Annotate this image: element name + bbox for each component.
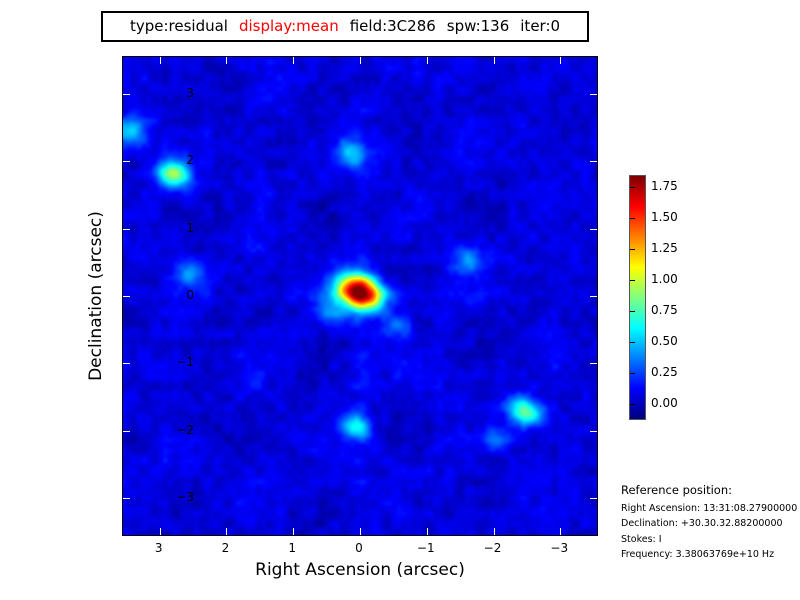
- colorbar-tick-mark: [630, 187, 635, 188]
- header-item-type: type:residual: [130, 19, 228, 34]
- x-axis-tick-label: −1: [417, 541, 435, 555]
- colorbar-tick-label: 0.50: [651, 334, 678, 348]
- colorbar-tick-mark: [630, 404, 635, 405]
- colorbar-tick-label: 0.25: [651, 365, 678, 379]
- y-axis-tick-label: −1: [176, 355, 194, 369]
- colorbar-gradient: [630, 176, 645, 419]
- y-axis-label: Declination (arcsec): [86, 56, 106, 536]
- y-axis-tick-label: 2: [186, 153, 194, 167]
- x-axis-label: Right Ascension (arcsec): [122, 560, 598, 580]
- y-axis-tick-label: −2: [176, 423, 194, 437]
- colorbar-tick-mark: [630, 249, 635, 250]
- y-axis-tick-label: 0: [186, 288, 194, 302]
- colorbar-tick-mark: [630, 373, 635, 374]
- colorbar[interactable]: [629, 175, 646, 420]
- residual-image-canvas[interactable]: [123, 57, 597, 535]
- colorbar-tick-mark: [630, 342, 635, 343]
- reference-position-dec: Declination: +30.30.32.88200000: [621, 516, 799, 531]
- header-item-display: display:mean: [239, 19, 339, 34]
- x-axis-tick-label: 2: [222, 541, 230, 555]
- reference-position-stokes: Stokes: I: [621, 532, 799, 547]
- colorbar-tick-label: 1.25: [651, 241, 678, 255]
- colorbar-tick-label: 1.50: [651, 210, 678, 224]
- colorbar-tick-label: 1.00: [651, 272, 678, 286]
- colorbar-tick-mark: [630, 218, 635, 219]
- reference-position-frequency: Frequency: 3.38063769e+10 Hz: [621, 547, 799, 562]
- reference-position-title: Reference position:: [621, 483, 799, 497]
- x-axis-tick-label: 3: [155, 541, 163, 555]
- x-axis-tick-label: 1: [288, 541, 296, 555]
- x-axis-tick-label: −3: [550, 541, 568, 555]
- colorbar-tick-label: 0.00: [651, 396, 678, 410]
- image-info-header: type:residual display:mean field:3C286 s…: [101, 11, 589, 42]
- colorbar-tick-mark: [630, 311, 635, 312]
- y-axis-tick-label: 1: [186, 221, 194, 235]
- y-axis-tick-label: 3: [186, 86, 194, 100]
- header-item-spw: spw:136: [447, 19, 509, 34]
- colorbar-tick-label: 1.75: [651, 179, 678, 193]
- header-item-field: field:3C286: [350, 19, 436, 34]
- y-axis-tick-label: −3: [176, 490, 194, 504]
- x-axis-tick-label: −2: [484, 541, 502, 555]
- colorbar-tick-mark: [630, 280, 635, 281]
- x-axis-tick-label: 0: [355, 541, 363, 555]
- header-item-iter: iter:0: [520, 19, 560, 34]
- colorbar-tick-label: 0.75: [651, 303, 678, 317]
- reference-position-panel: Reference position: Right Ascension: 13:…: [621, 483, 799, 563]
- reference-position-ra: Right Ascension: 13:31:08.27900000: [621, 501, 799, 516]
